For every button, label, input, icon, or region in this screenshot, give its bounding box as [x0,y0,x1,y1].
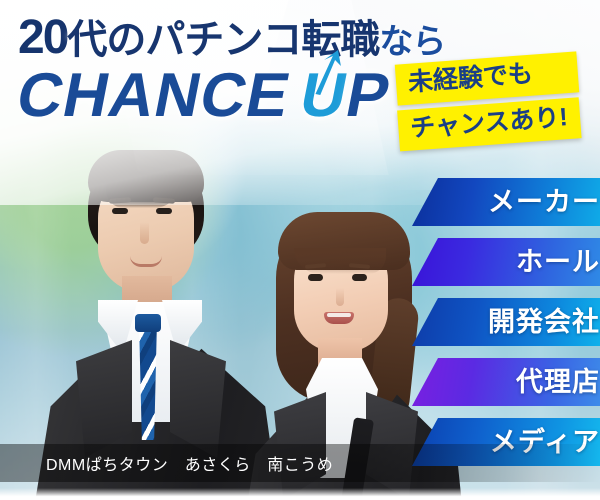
logo-word-chance: CHANCE [12,66,295,127]
credits-strip: DMMぱちタウン あさくら 南こうめ [0,444,600,482]
headline-line-1: 20代のパチンコ転職なら [18,14,438,62]
bottom-white-edge [0,488,600,500]
category-label-maker: メーカー [488,189,600,216]
category-bar-agency[interactable]: 代理店 [412,358,600,406]
headline-number: 20 [18,11,67,64]
category-bar-development-company[interactable]: 開発会社 [412,298,600,346]
highlight-badges: 未経験でも チャンスあり! [396,58,578,140]
headline-block: 20代のパチンコ転職なら CHANCE UP [18,14,438,127]
ad-banner[interactable]: 20代のパチンコ転職なら CHANCE UP 未経験でも チャンスあり! メーカ… [0,0,600,500]
category-bar-hall[interactable]: ホール [412,238,600,286]
category-bar-maker[interactable]: メーカー [412,178,600,226]
headline-middle: 代のパチンコ転職 [67,18,379,62]
category-label-agency: 代理店 [516,369,600,396]
badge-no-experience: 未経験でも [395,51,579,105]
logo-word-up: UP [295,66,395,127]
category-bar-list: メーカー ホール 開発会社 代理店 メディア [0,178,600,478]
category-label-development-company: 開発会社 [488,309,600,336]
category-label-hall: ホール [516,249,600,276]
headline-tail: なら [379,23,445,61]
chance-up-logo: CHANCE UP [12,66,444,127]
